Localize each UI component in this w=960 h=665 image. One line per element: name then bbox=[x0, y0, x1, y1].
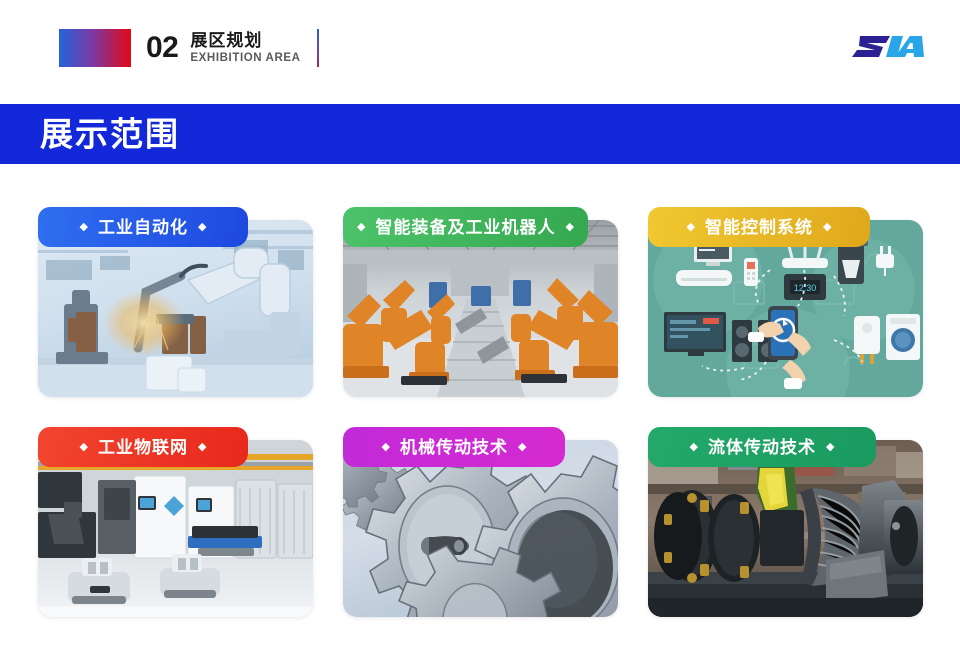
diamond-icon: ◆ bbox=[80, 222, 88, 233]
category-card[interactable]: ◆ 智能装备及工业机器人 ◆ bbox=[343, 207, 618, 397]
category-pill[interactable]: ◆ 工业自动化 ◆ bbox=[38, 207, 248, 247]
header-divider bbox=[317, 29, 319, 67]
category-label: 智能控制系统 bbox=[705, 219, 813, 236]
category-card[interactable]: ◆ 工业自动化 ◆ bbox=[38, 207, 313, 397]
category-card[interactable]: ◆ 机械传动技术 ◆ bbox=[343, 427, 618, 617]
exhibition-category-grid: ◆ 工业自动化 ◆ bbox=[38, 207, 922, 617]
diamond-icon: ◆ bbox=[198, 222, 206, 233]
section-number: 02 bbox=[146, 33, 178, 63]
diamond-icon: ◆ bbox=[566, 222, 574, 233]
category-card[interactable]: ◆ 工业物联网 ◆ bbox=[38, 427, 313, 617]
section-title-en: EXHIBITION AREA bbox=[190, 53, 300, 65]
section-title-group: 展区规划 EXHIBITION AREA bbox=[190, 32, 300, 65]
diamond-icon: ◆ bbox=[80, 442, 88, 453]
category-pill[interactable]: ◆ 智能装备及工业机器人 ◆ bbox=[343, 207, 588, 247]
category-pill[interactable]: ◆ 智能控制系统 ◆ bbox=[648, 207, 870, 247]
diamond-icon: ◆ bbox=[382, 442, 390, 453]
diamond-icon: ◆ bbox=[690, 442, 698, 453]
section-heading: 展示范围 bbox=[40, 118, 180, 151]
header-branding: 02 展区规划 EXHIBITION AREA bbox=[59, 29, 319, 67]
category-label: 智能装备及工业机器人 bbox=[376, 219, 556, 236]
category-label: 机械传动技术 bbox=[400, 439, 508, 456]
diamond-icon: ◆ bbox=[357, 222, 365, 233]
category-label: 工业物联网 bbox=[98, 439, 188, 456]
section-title-cn: 展区规划 bbox=[190, 32, 300, 49]
category-pill[interactable]: ◆ 机械传动技术 ◆ bbox=[343, 427, 565, 467]
diamond-icon: ◆ bbox=[198, 442, 206, 453]
diamond-icon: ◆ bbox=[518, 442, 526, 453]
category-label: 工业自动化 bbox=[98, 219, 188, 236]
category-card[interactable]: 12:30 bbox=[648, 207, 923, 397]
gradient-accent-block bbox=[59, 29, 131, 67]
sia-logo bbox=[850, 26, 924, 66]
category-pill[interactable]: ◆ 工业物联网 ◆ bbox=[38, 427, 248, 467]
diamond-icon: ◆ bbox=[823, 222, 831, 233]
category-pill[interactable]: ◆ 流体传动技术 ◆ bbox=[648, 427, 876, 467]
diamond-icon: ◆ bbox=[826, 442, 834, 453]
diamond-icon: ◆ bbox=[687, 222, 695, 233]
page-header: 02 展区规划 EXHIBITION AREA bbox=[0, 0, 960, 92]
category-label: 流体传动技术 bbox=[708, 439, 816, 456]
section-title-bar: 展示范围 bbox=[0, 104, 960, 164]
category-card[interactable]: ◆ 流体传动技术 ◆ bbox=[648, 427, 923, 617]
